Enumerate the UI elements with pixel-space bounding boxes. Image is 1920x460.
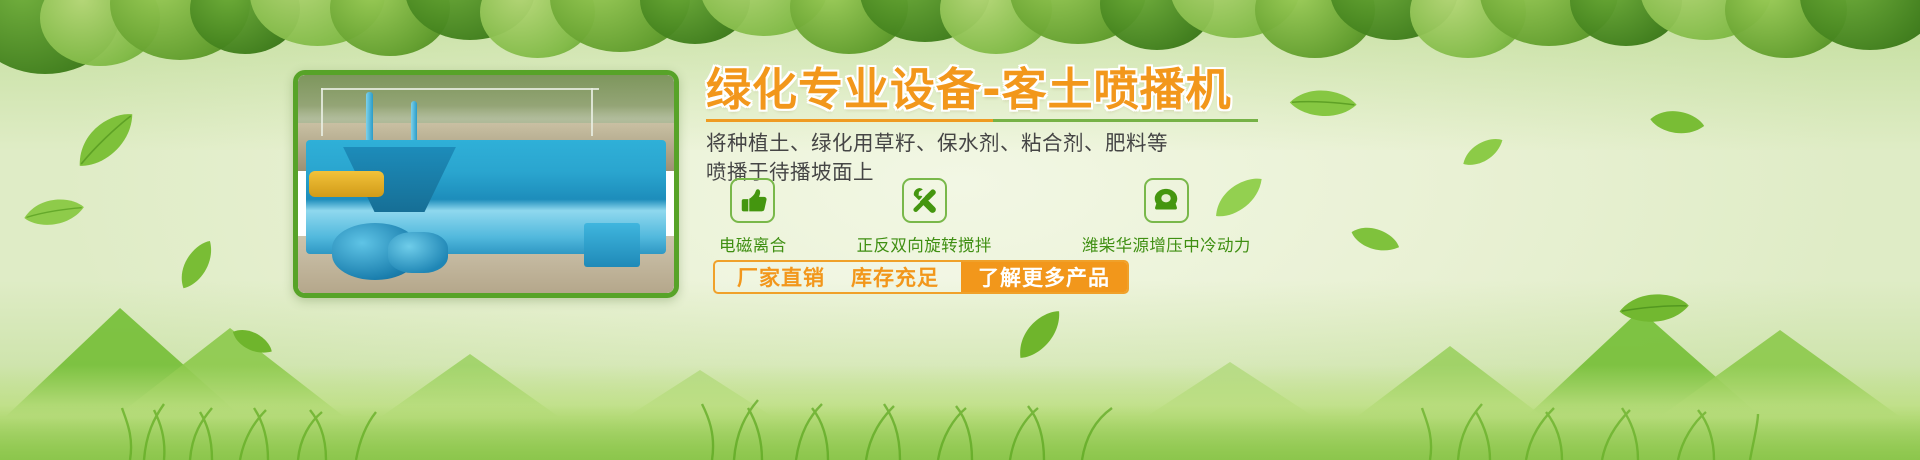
feature-item-weichai-power[interactable]: 潍柴华源增压中冷动力 [1082,178,1251,256]
feature-item-bidirectional-mixing[interactable]: 正反双向旋转搅拌 [857,178,992,256]
feature-label: 电磁离合 [719,232,787,256]
title-underline [706,119,1258,122]
feature-label: 潍柴华源增压中冷动力 [1082,232,1251,256]
grass-tuft-center [700,386,1120,460]
product-photo [293,70,679,298]
subtitle-line-1: 将种植土、绿化用草籽、保水剂、粘合剂、肥料等 [706,129,1406,158]
wrench-screwdriver-icon [902,178,947,223]
thumbs-up-icon [730,178,775,223]
learn-more-button[interactable]: 了解更多产品 [961,262,1127,292]
feature-list: 电磁离合 正反双向旋转搅拌 [706,178,1406,256]
grass-tuft-right [1420,390,1760,460]
promo-banner: 绿化专业设备-客土喷播机 将种植土、绿化用草籽、保水剂、粘合剂、肥料等 喷播于待… [0,0,1920,460]
page-title: 绿化专业设备-客土喷播机 [706,66,1406,115]
cta-tags: 厂家直销 库存充足 [715,262,961,292]
cta-bar: 厂家直销 库存充足 了解更多产品 [713,260,1129,294]
banner-text-block: 绿化专业设备-客土喷播机 将种植土、绿化用草籽、保水剂、粘合剂、肥料等 喷播于待… [706,66,1406,187]
feature-item-electromagnetic-clutch[interactable]: 电磁离合 [719,178,787,256]
cta-tag-in-stock: 库存充足 [851,262,939,292]
cta-tag-factory-direct: 厂家直销 [737,262,825,292]
feature-label: 正反双向旋转搅拌 [857,232,992,256]
grass-tuft-left [120,390,380,460]
engine-gear-icon [1144,178,1189,223]
product-photo-image [298,75,674,293]
